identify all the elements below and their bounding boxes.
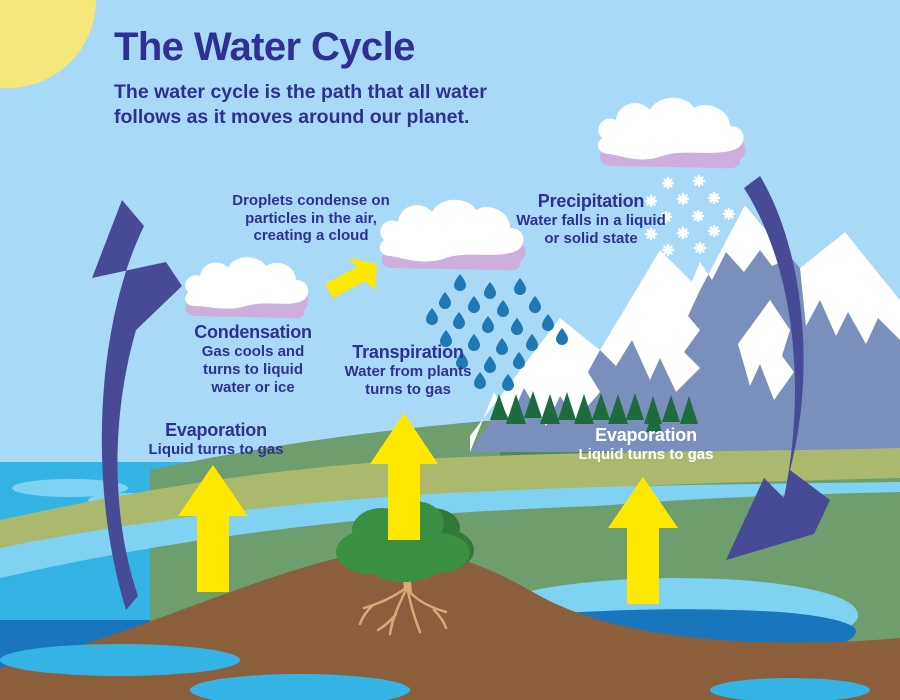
page-subtitle: The water cycle is the path that all wat… [114, 80, 487, 130]
evaporation-right-heading: Evaporation [566, 425, 726, 446]
water-cycle-diagram: The Water Cycle The water cycle is the p… [0, 0, 900, 700]
precipitation-heading: Precipitation [511, 191, 671, 212]
evaporation-left-heading: Evaporation [139, 420, 293, 441]
precipitation-label: Precipitation Water falls in a liquid or… [511, 191, 671, 248]
page-title: The Water Cycle [114, 26, 487, 68]
droplets-note: Droplets condense on particles in the ai… [231, 192, 391, 245]
droplets-note-text: Droplets condense on particles in the ai… [231, 192, 391, 245]
transpiration-body: Water from plants turns to gas [337, 363, 479, 398]
condensation-heading: Condensation [183, 322, 323, 343]
groundwater [0, 644, 240, 676]
transpiration-label: Transpiration Water from plants turns to… [337, 342, 479, 399]
evaporation-right-body: Liquid turns to gas [566, 446, 726, 464]
evaporation-left-body: Liquid turns to gas [139, 441, 293, 459]
condensation-body: Gas cools and turns to liquid water or i… [183, 343, 323, 396]
transpiration-heading: Transpiration [337, 342, 479, 363]
precipitation-body: Water falls in a liquid or solid state [511, 212, 671, 247]
condensation-label: Condensation Gas cools and turns to liqu… [183, 322, 323, 396]
evaporation-right-label: Evaporation Liquid turns to gas [566, 425, 726, 464]
evaporation-left-label: Evaporation Liquid turns to gas [139, 420, 293, 459]
title-block: The Water Cycle The water cycle is the p… [114, 26, 487, 130]
